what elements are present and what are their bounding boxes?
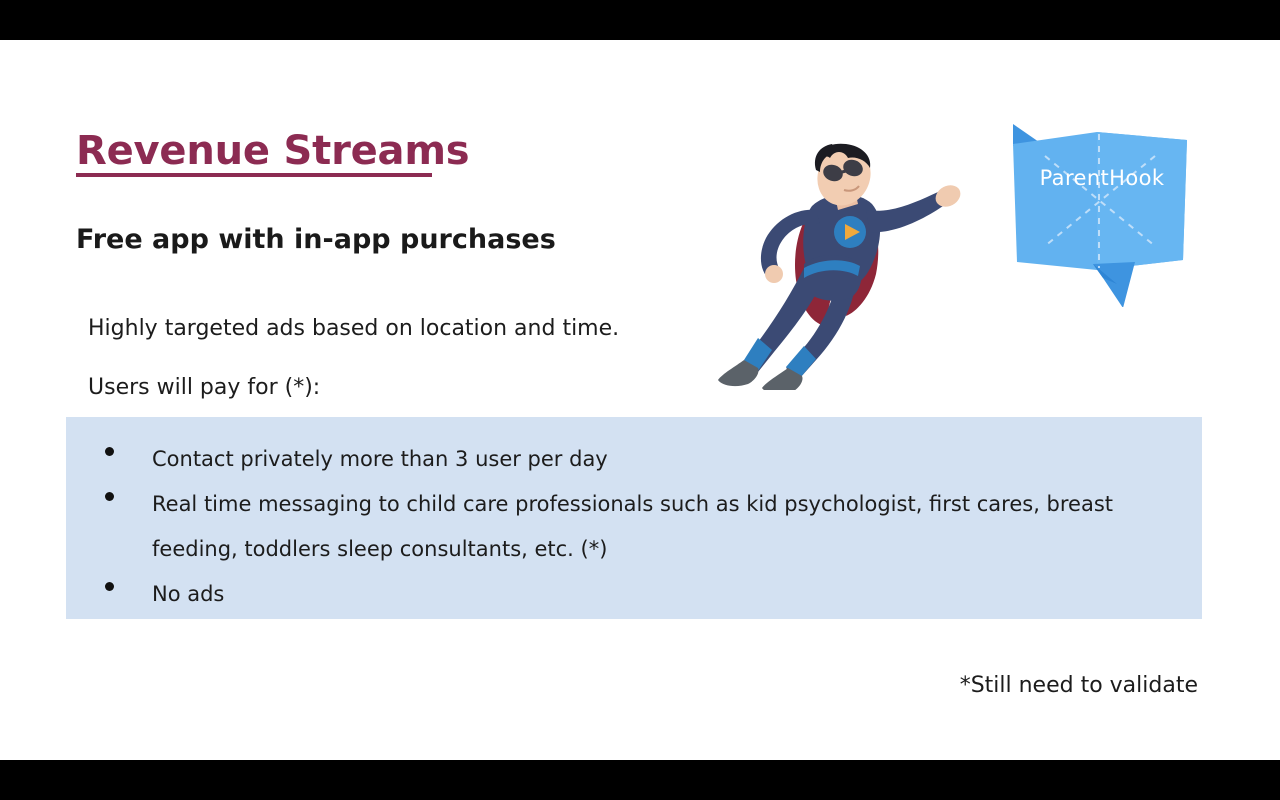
letterbox-bottom — [0, 760, 1280, 800]
bullet-dot-icon — [105, 582, 114, 591]
slide-canvas: Revenue Streams Free app with in-app pur… — [0, 40, 1280, 760]
list-item-label: Contact privately more than 3 user per d… — [152, 437, 1182, 482]
intro-line-2: Users will pay for (*): — [88, 375, 320, 400]
page-title: Revenue Streams — [76, 128, 469, 174]
callout-box: Contact privately more than 3 user per d… — [66, 417, 1202, 619]
title-underline — [76, 173, 432, 177]
list-item-label: Real time messaging to child care profes… — [152, 482, 1182, 572]
slide-subtitle: Free app with in-app purchases — [76, 224, 556, 255]
footnote: *Still need to validate — [960, 673, 1198, 698]
parenthook-logo — [1005, 112, 1195, 307]
bullet-dot-icon — [105, 492, 114, 501]
bullet-dot-icon — [105, 447, 114, 456]
flying-superhero-illustration — [700, 140, 990, 390]
intro-line-1: Highly targeted ads based on location an… — [88, 316, 619, 341]
list-item-label: No ads — [152, 572, 1182, 617]
letterbox-top — [0, 0, 1280, 40]
logo-wordmark: ParentHook — [1032, 166, 1172, 190]
